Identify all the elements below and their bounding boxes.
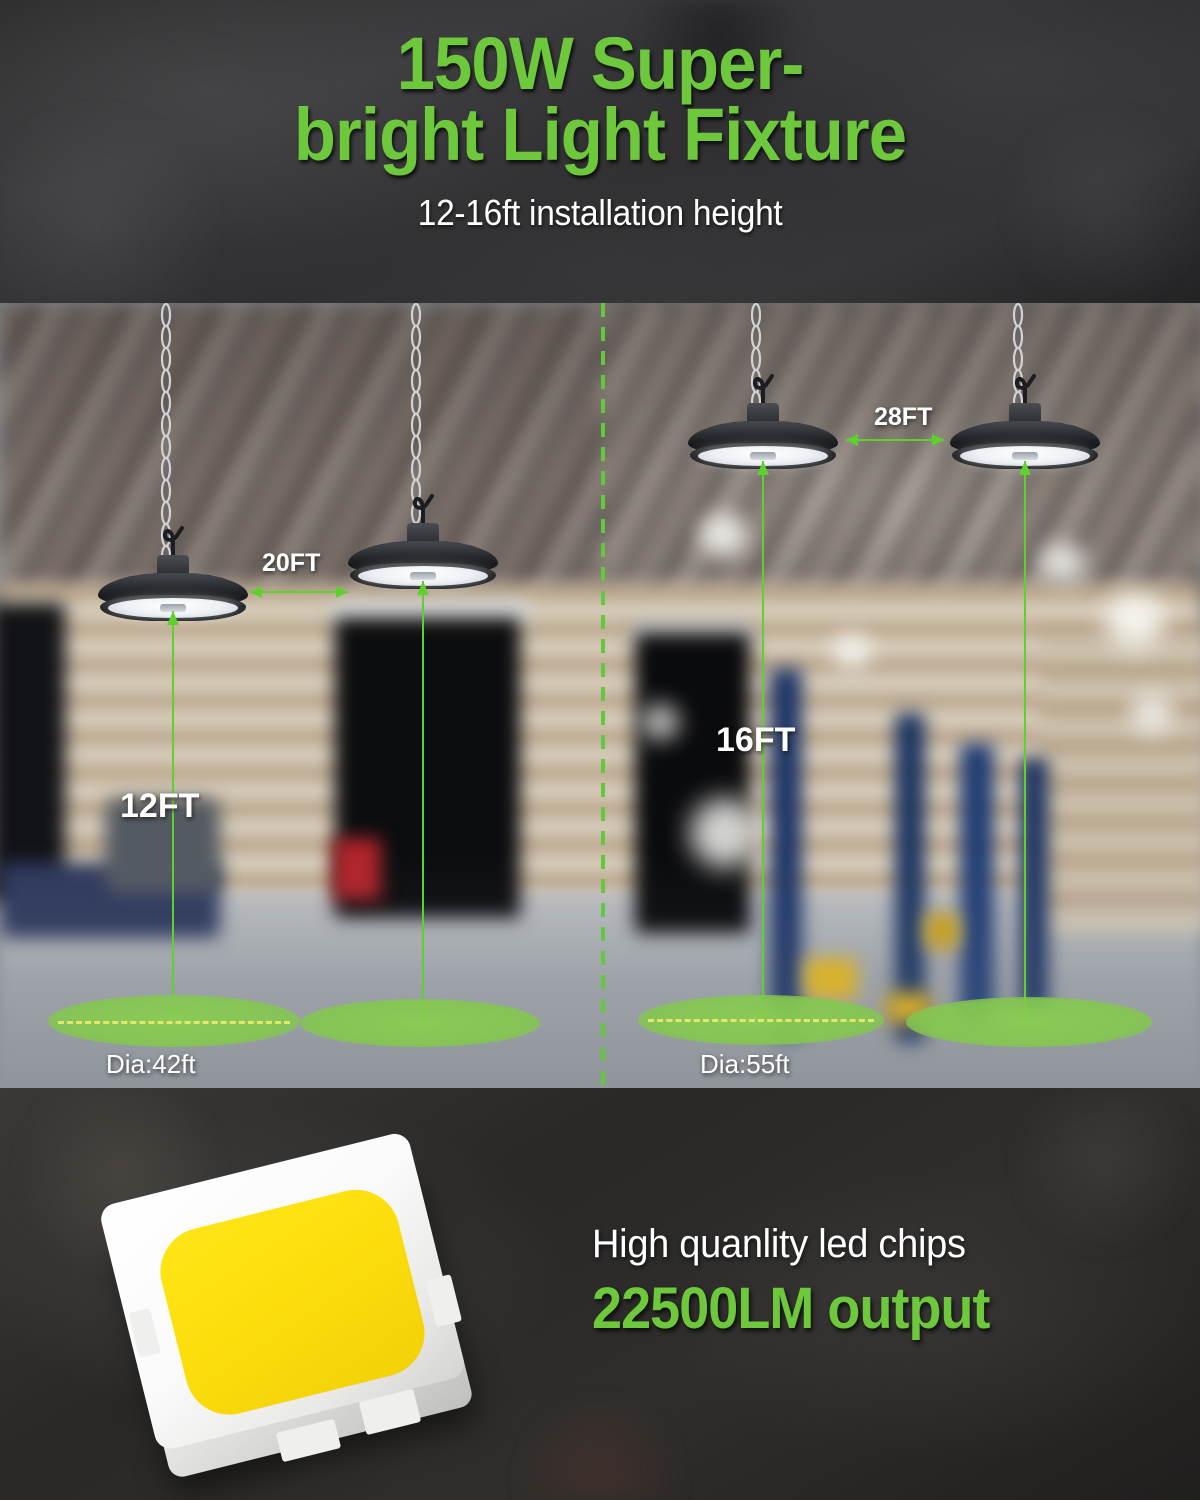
spacing-label-right: 28FT bbox=[874, 403, 932, 432]
spacing-label-left: 20FT bbox=[262, 549, 320, 578]
height-arrow-left-2 bbox=[422, 581, 424, 1021]
title-line-2: bright Light Fixture bbox=[144, 99, 1055, 170]
light-pool-diameter-line-right bbox=[648, 1019, 874, 1022]
chip-body bbox=[98, 1131, 468, 1452]
led-heading: High quanlity led chips bbox=[592, 1222, 998, 1267]
spacing-arrow-right bbox=[846, 439, 944, 441]
scenario-divider bbox=[601, 303, 605, 1088]
height-arrow-right-2 bbox=[1024, 461, 1026, 1023]
light-pool-left-2 bbox=[300, 999, 540, 1047]
height-label-left: 12FT bbox=[120, 787, 199, 826]
light-pool-right-2 bbox=[906, 997, 1152, 1047]
chip-solder-pad-bottom-2 bbox=[359, 1389, 422, 1436]
fixture-led-module bbox=[1012, 452, 1038, 460]
led-output-value: 22500LM output bbox=[592, 1275, 990, 1342]
fixture-led-module bbox=[750, 452, 776, 460]
chip-solder-pad-right bbox=[425, 1274, 462, 1327]
header-banner: 150W Super- bright Light Fixture 12-16ft… bbox=[0, 0, 1200, 303]
product-infographic: 150W Super- bright Light Fixture 12-16ft… bbox=[0, 0, 1200, 1500]
diameter-label-right: Dia:55ft bbox=[700, 1049, 790, 1080]
led-text-block: High quanlity led chips 22500LM output bbox=[592, 1222, 1020, 1342]
chip-solder-pad-left bbox=[128, 1308, 160, 1358]
spacing-arrow-left bbox=[250, 591, 348, 593]
installation-diagram: 20FT 12FT Dia:42ft bbox=[0, 303, 1200, 1088]
height-label-right: 16FT bbox=[716, 721, 795, 760]
fixture-led-module bbox=[410, 572, 436, 580]
page-title: 150W Super- bright Light Fixture bbox=[144, 28, 1055, 170]
light-pool-diameter-line-left bbox=[58, 1021, 290, 1024]
chip-phosphor-area bbox=[151, 1180, 434, 1423]
diameter-label-left: Dia:42ft bbox=[106, 1049, 196, 1080]
page-subtitle: 12-16ft installation height bbox=[418, 192, 783, 234]
